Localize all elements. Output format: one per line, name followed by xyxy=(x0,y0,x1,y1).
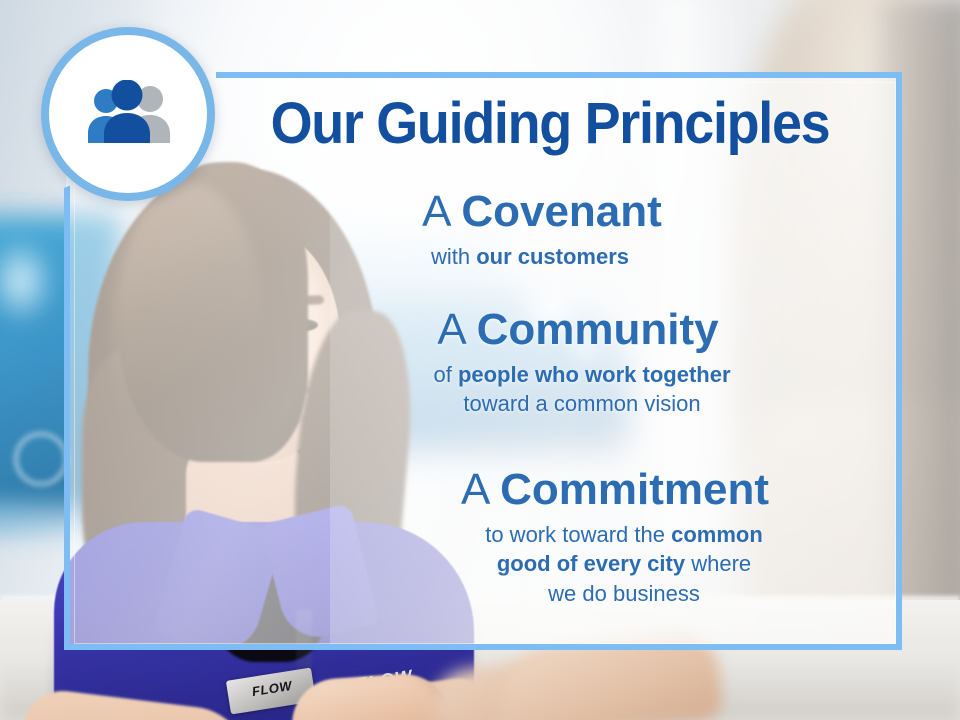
principle-community-keyword: Community xyxy=(477,305,719,354)
principle-commitment-keyword: Commitment xyxy=(500,465,769,514)
kiosk-highlight xyxy=(0,236,56,326)
principle-covenant-sub: with our customers xyxy=(180,242,880,272)
sub-span: with xyxy=(431,244,476,269)
principle-community-sub: of people who work together toward a com… xyxy=(284,360,880,419)
sub-line: we do business xyxy=(368,579,880,609)
sub-span-bold: our customers xyxy=(476,244,629,269)
sub-line: toward a common vision xyxy=(284,389,880,419)
sub-span: to work toward the xyxy=(485,522,671,547)
principle-covenant: A Covenant with our customers xyxy=(180,188,880,271)
principle-commitment: A Commitment to work toward the common g… xyxy=(180,466,880,609)
sub-span: where xyxy=(685,551,751,576)
principle-community: A Community of people who work together … xyxy=(180,306,880,419)
sub-line: good of every city where xyxy=(368,549,880,579)
sub-line: to work toward the common xyxy=(368,520,880,550)
sub-span-bold: common xyxy=(671,522,763,547)
page-title: Our Guiding Principles xyxy=(243,94,857,153)
principle-commitment-lead: A Commitment xyxy=(350,466,880,514)
sub-line: of people who work together xyxy=(284,360,880,390)
principle-community-lead: A Community xyxy=(276,306,880,354)
sub-line: with our customers xyxy=(180,242,880,272)
sub-span-bold: people who work together xyxy=(458,362,731,387)
people-group-badge xyxy=(41,27,215,201)
principle-commitment-article: A xyxy=(461,465,500,514)
principle-covenant-lead: A Covenant xyxy=(204,188,880,236)
sub-span-bold: good of every city xyxy=(497,551,685,576)
sub-span: we do business xyxy=(548,581,700,606)
sub-span: toward a common vision xyxy=(463,391,700,416)
people-group-icon xyxy=(80,80,176,148)
principle-covenant-keyword: Covenant xyxy=(461,187,661,236)
sub-span: of xyxy=(433,362,457,387)
principle-covenant-article: A xyxy=(422,187,461,236)
promo-graphic: FLOW FLOW xyxy=(0,0,960,720)
principle-commitment-sub: to work toward the common good of every … xyxy=(368,520,880,609)
principle-community-article: A xyxy=(437,305,476,354)
